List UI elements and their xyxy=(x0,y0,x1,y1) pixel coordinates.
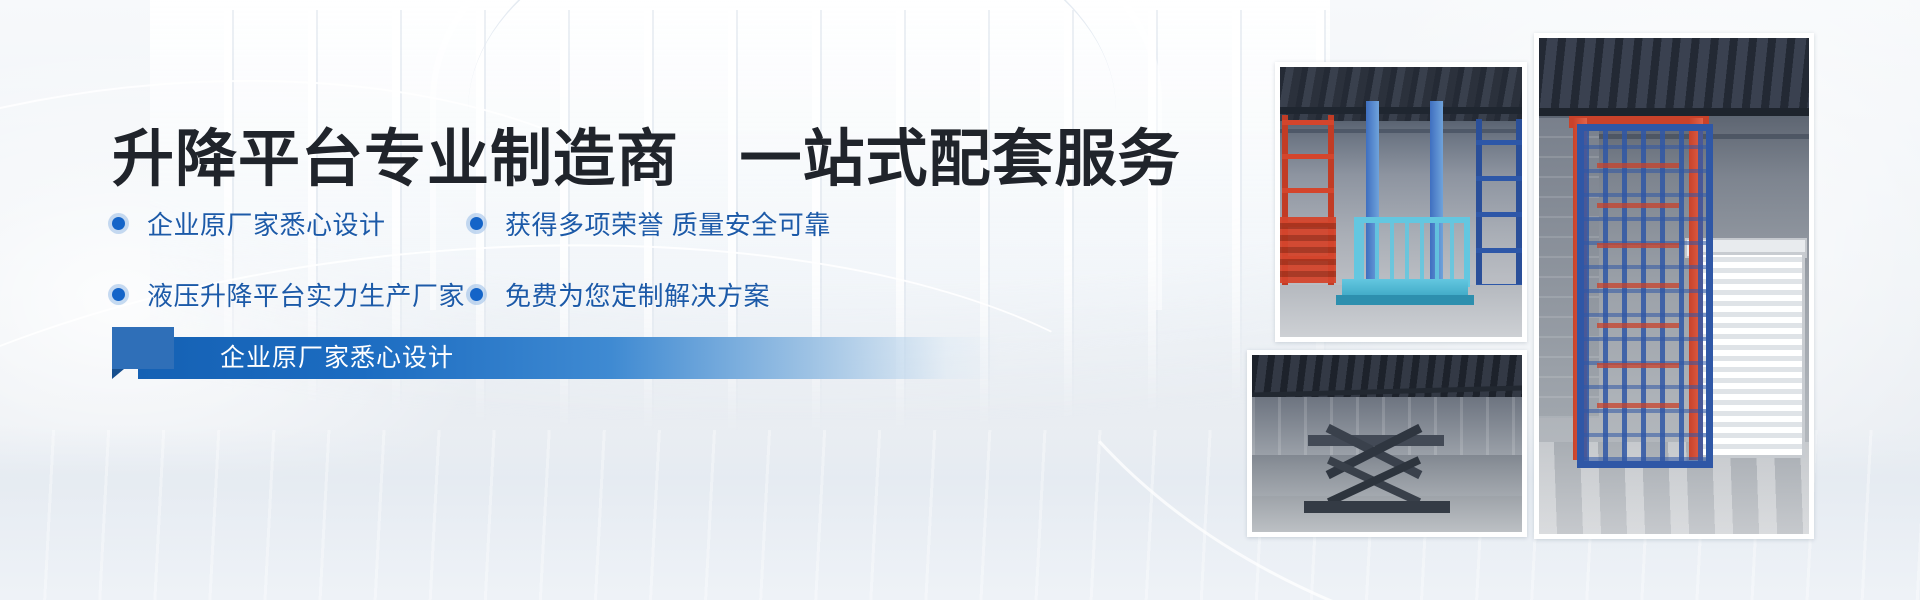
photo-inner xyxy=(1539,38,1809,534)
product-photo-guide-rail-lift-workshop xyxy=(1275,62,1527,342)
product-photo-scissor-lift-workshop xyxy=(1247,350,1527,537)
headline-part-2: 一站式配套服务 xyxy=(739,125,1180,194)
feature-row: 液压升降平台实力生产厂家 免费为您定制解决方案 xyxy=(112,276,992,313)
blue-rack xyxy=(1476,119,1522,289)
photo-art xyxy=(1280,67,1522,337)
bullet-dot-icon xyxy=(112,217,125,230)
red-stairs xyxy=(1280,217,1336,283)
headline: 升降平台专业制造商 一站式配套服务 xyxy=(112,108,1181,198)
feature-item-3: 液压升降平台实力生产厂家 xyxy=(112,276,470,313)
feature-label: 企业原厂家悉心设计 xyxy=(147,205,386,242)
feature-item-1: 企业原厂家悉心设计 xyxy=(112,205,470,242)
highlight-ribbon: 企业原厂家悉心设计 xyxy=(112,337,1012,379)
product-photo-guide-rail-lift-roller-shutter xyxy=(1534,33,1814,539)
photo-art xyxy=(1252,355,1522,532)
photo-inner xyxy=(1252,355,1522,532)
feature-item-4: 免费为您定制解决方案 xyxy=(470,276,770,313)
ribbon-label: 企业原厂家悉心设计 xyxy=(220,337,454,379)
ribbon-tab-icon xyxy=(112,327,174,369)
feature-list: 企业原厂家悉心设计 获得多项荣誉 质量安全可靠 液压升降平台实力生产厂家 免费为… xyxy=(112,205,992,347)
feature-label: 免费为您定制解决方案 xyxy=(505,276,770,313)
feature-label: 液压升降平台实力生产厂家 xyxy=(147,276,465,313)
feature-label: 获得多项荣誉 质量安全可靠 xyxy=(505,205,831,242)
photo-inner xyxy=(1280,67,1522,337)
headline-part-1: 升降平台专业制造商 xyxy=(112,125,679,194)
roof-beam xyxy=(1280,107,1522,114)
photo-art xyxy=(1539,38,1809,534)
lift-guard-rail xyxy=(1354,217,1470,287)
bullet-dot-icon xyxy=(470,288,483,301)
roof xyxy=(1539,38,1809,114)
roof-beam xyxy=(1539,108,1809,116)
promo-banner: 升降平台专业制造商 一站式配套服务 企业原厂家悉心设计 获得多项荣誉 质量安全可… xyxy=(0,0,1920,600)
scissor-base-frame xyxy=(1304,501,1450,513)
bullet-dot-icon xyxy=(112,288,125,301)
feature-item-2: 获得多项荣誉 质量安全可靠 xyxy=(470,205,831,242)
lift-platform-base xyxy=(1336,295,1474,305)
feature-row: 企业原厂家悉心设计 获得多项荣誉 质量安全可靠 xyxy=(112,205,992,242)
lift-inner-frame xyxy=(1597,158,1679,408)
bullet-dot-icon xyxy=(470,217,483,230)
